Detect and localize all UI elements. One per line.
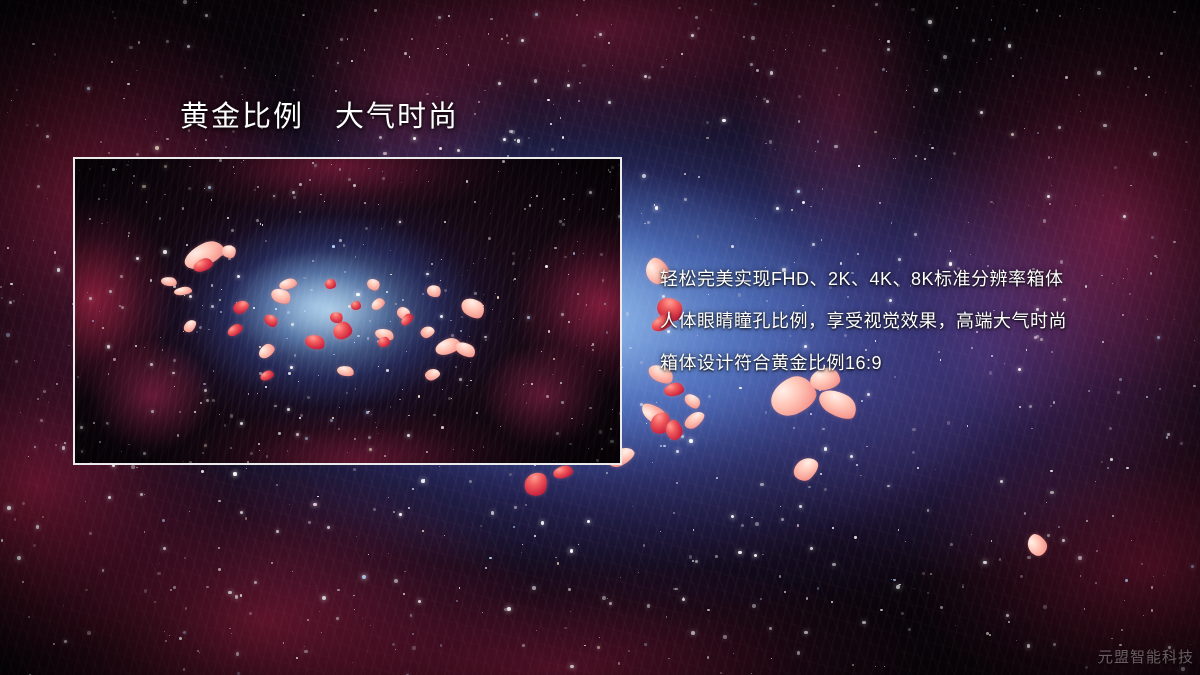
star — [793, 427, 795, 429]
star — [806, 597, 809, 600]
star — [547, 99, 550, 102]
star — [891, 222, 893, 224]
star — [1160, 52, 1163, 55]
star — [488, 33, 490, 35]
star — [1075, 205, 1076, 206]
star — [404, 52, 407, 55]
star — [235, 595, 238, 598]
star — [228, 591, 232, 595]
star — [695, 76, 696, 77]
star — [819, 390, 820, 391]
star — [632, 506, 633, 507]
star — [905, 541, 907, 543]
star — [812, 243, 815, 246]
star — [138, 41, 140, 43]
star — [327, 526, 330, 529]
star — [411, 38, 413, 40]
presentation-slide: 黄金比例 大气时尚 轻松完美实现FHD、2K、4K、8K标准分辨率箱体 人体眼睛… — [0, 0, 1200, 675]
star — [1151, 609, 1154, 612]
star — [986, 632, 989, 635]
star — [1085, 666, 1089, 670]
star — [810, 399, 811, 400]
star — [599, 637, 600, 638]
star — [648, 76, 651, 79]
star — [567, 84, 570, 87]
star — [927, 592, 929, 594]
star — [570, 549, 574, 553]
star — [240, 511, 243, 514]
star — [156, 131, 157, 132]
star — [673, 588, 676, 591]
star — [469, 480, 472, 483]
star — [183, 631, 186, 634]
star — [738, 551, 742, 555]
body-text-line-3: 箱体设计符合黄金比例16:9 — [660, 342, 1180, 384]
star — [908, 85, 909, 86]
star — [62, 446, 66, 450]
flower-petal — [663, 418, 684, 442]
star — [802, 201, 805, 204]
star — [898, 584, 901, 587]
star — [584, 645, 586, 647]
star — [1043, 605, 1047, 609]
star — [692, 560, 694, 562]
star — [34, 446, 37, 449]
star — [1096, 550, 1098, 552]
star — [955, 625, 956, 626]
star — [931, 178, 932, 179]
star — [647, 604, 650, 607]
star — [1190, 85, 1193, 88]
star — [1027, 556, 1030, 559]
star — [681, 435, 684, 438]
star — [136, 153, 139, 156]
star — [37, 185, 40, 188]
star — [246, 468, 247, 469]
star — [993, 203, 994, 204]
star — [866, 446, 868, 448]
star — [741, 524, 744, 527]
star — [108, 152, 110, 154]
star — [307, 619, 309, 621]
star — [195, 148, 196, 149]
star — [562, 136, 565, 139]
star — [607, 598, 608, 599]
star — [1103, 195, 1104, 196]
star — [968, 222, 969, 223]
star — [1084, 608, 1085, 609]
star — [832, 5, 835, 8]
star — [1031, 428, 1033, 430]
star — [68, 345, 70, 347]
star — [999, 558, 1001, 560]
star — [89, 532, 92, 535]
star — [437, 48, 439, 50]
star — [446, 54, 447, 55]
star — [57, 268, 61, 272]
star — [337, 589, 340, 592]
star — [1016, 640, 1017, 641]
star — [1173, 241, 1176, 244]
star — [911, 8, 915, 12]
star — [170, 589, 172, 591]
flower-petal — [682, 408, 707, 432]
star — [875, 666, 876, 667]
star — [850, 455, 853, 458]
star — [54, 251, 56, 253]
star — [697, 235, 700, 238]
star — [612, 65, 613, 66]
star — [1050, 491, 1054, 495]
star — [87, 87, 90, 90]
star — [36, 525, 40, 529]
star — [1012, 75, 1014, 77]
star — [289, 504, 290, 505]
star — [513, 526, 515, 528]
star — [1049, 203, 1051, 205]
star — [312, 75, 314, 77]
star — [993, 6, 994, 7]
star — [40, 419, 43, 422]
star — [367, 651, 368, 652]
star — [364, 49, 366, 51]
star — [254, 581, 257, 584]
star — [810, 413, 812, 415]
star — [1101, 461, 1103, 463]
star — [666, 59, 667, 60]
star — [570, 611, 571, 612]
star — [731, 245, 734, 248]
star — [480, 525, 482, 527]
star — [594, 36, 596, 38]
star — [102, 569, 105, 572]
star — [628, 650, 630, 652]
star — [308, 521, 312, 525]
star — [14, 518, 16, 520]
star — [989, 634, 991, 636]
star — [536, 630, 537, 631]
star — [388, 497, 389, 498]
star — [691, 34, 694, 37]
star — [754, 3, 757, 6]
star — [1020, 57, 1022, 59]
star — [769, 140, 773, 144]
star — [53, 643, 55, 645]
star — [914, 588, 915, 589]
star — [1191, 565, 1194, 568]
star — [1046, 502, 1047, 503]
flower-petal — [815, 384, 862, 425]
star — [184, 557, 186, 559]
star — [225, 146, 228, 149]
star — [304, 650, 308, 654]
star — [922, 572, 926, 576]
star — [1023, 4, 1025, 6]
star — [560, 117, 562, 119]
star — [507, 607, 511, 611]
star — [46, 135, 49, 138]
star — [695, 16, 698, 19]
star — [756, 69, 758, 71]
star — [276, 484, 278, 486]
star — [6, 333, 10, 337]
star — [789, 408, 791, 410]
star — [751, 517, 753, 519]
star — [162, 519, 165, 522]
star — [514, 506, 517, 509]
star — [681, 53, 683, 55]
star — [875, 3, 878, 6]
star — [241, 94, 242, 95]
star — [20, 412, 21, 413]
star — [528, 137, 530, 139]
star — [164, 631, 165, 632]
star — [362, 575, 366, 579]
star — [887, 485, 890, 488]
star — [579, 82, 581, 84]
star — [136, 467, 138, 469]
star — [1036, 9, 1038, 11]
flower-petal — [648, 410, 672, 436]
star — [824, 488, 827, 491]
star — [926, 70, 928, 72]
star — [1109, 427, 1112, 430]
star — [302, 14, 305, 17]
star — [131, 465, 135, 469]
star — [879, 39, 880, 40]
star — [338, 140, 339, 141]
star — [884, 666, 885, 667]
star — [880, 609, 883, 612]
star — [1151, 236, 1154, 239]
star — [340, 38, 343, 41]
star — [953, 152, 956, 155]
star — [85, 501, 86, 502]
star — [244, 67, 246, 69]
star — [656, 402, 657, 403]
star — [1125, 579, 1128, 582]
star — [787, 414, 789, 416]
star — [218, 500, 221, 503]
star — [313, 503, 317, 507]
star — [326, 47, 328, 49]
star — [743, 36, 745, 38]
flower-petal — [790, 453, 823, 485]
star — [765, 411, 768, 414]
star — [879, 202, 881, 204]
star — [501, 38, 503, 40]
star — [771, 658, 772, 659]
star — [532, 586, 536, 590]
star — [755, 218, 756, 219]
star — [157, 572, 160, 575]
star — [950, 250, 951, 251]
star — [388, 553, 389, 554]
star — [478, 101, 480, 103]
star — [347, 38, 349, 40]
star — [1131, 540, 1132, 541]
star — [64, 442, 66, 444]
star — [351, 60, 353, 62]
star — [893, 158, 895, 160]
star — [1127, 86, 1129, 88]
star — [582, 64, 585, 67]
star — [797, 190, 800, 193]
star — [129, 46, 133, 50]
star — [909, 32, 910, 33]
star — [373, 508, 376, 511]
star — [550, 123, 552, 125]
star — [931, 147, 934, 150]
star — [17, 556, 21, 560]
flower-petal — [638, 400, 670, 428]
star — [896, 585, 900, 589]
star — [668, 658, 670, 660]
star — [1020, 575, 1022, 577]
star — [482, 612, 483, 613]
star — [399, 513, 402, 516]
star — [485, 567, 487, 569]
star — [1006, 614, 1009, 617]
star — [570, 665, 573, 668]
star — [112, 11, 114, 13]
star — [715, 555, 718, 558]
star — [751, 673, 752, 674]
star — [568, 70, 569, 71]
star — [799, 505, 802, 508]
star — [834, 145, 838, 149]
star — [832, 527, 835, 530]
star — [199, 652, 200, 653]
star — [276, 530, 279, 533]
star — [1124, 600, 1126, 602]
star — [647, 221, 650, 224]
star — [640, 403, 643, 406]
star — [1078, 556, 1082, 560]
star — [15, 360, 18, 363]
star — [293, 89, 295, 91]
star — [521, 39, 525, 43]
star — [673, 512, 675, 514]
star — [1159, 388, 1161, 390]
star — [474, 113, 476, 115]
slide-title: 黄金比例 大气时尚 — [180, 100, 459, 135]
star — [760, 598, 762, 600]
star — [144, 589, 148, 593]
star — [1193, 385, 1196, 388]
star — [317, 496, 319, 498]
star — [240, 594, 242, 596]
star — [608, 42, 610, 44]
star — [440, 644, 442, 646]
star — [409, 56, 411, 58]
star — [707, 656, 710, 659]
star — [683, 597, 685, 599]
star — [927, 509, 930, 512]
star — [763, 98, 766, 101]
star — [786, 35, 787, 36]
star — [444, 535, 445, 536]
star — [1062, 539, 1065, 542]
star — [611, 24, 612, 25]
star — [336, 617, 339, 620]
star — [205, 14, 208, 17]
star — [930, 573, 932, 575]
star — [1027, 644, 1030, 647]
star — [629, 347, 631, 349]
star — [7, 247, 9, 249]
star — [943, 55, 947, 59]
star — [798, 120, 800, 122]
star — [861, 400, 863, 402]
star — [597, 646, 600, 649]
star — [1153, 576, 1154, 577]
star — [514, 139, 516, 141]
star — [1028, 205, 1029, 206]
star — [16, 89, 18, 91]
star — [155, 146, 159, 150]
star — [849, 25, 850, 26]
star — [438, 16, 441, 19]
star — [394, 579, 398, 583]
star — [1080, 8, 1081, 9]
star — [832, 563, 836, 567]
framed-image-content — [75, 159, 620, 463]
star — [506, 34, 509, 37]
star — [852, 664, 854, 666]
star — [917, 467, 919, 469]
star — [32, 43, 35, 46]
star — [766, 100, 769, 103]
star — [689, 555, 693, 559]
star — [731, 515, 735, 519]
star — [218, 568, 221, 571]
star — [535, 13, 538, 16]
star — [249, 612, 253, 616]
star — [136, 70, 137, 71]
star — [817, 140, 820, 143]
star — [817, 587, 820, 590]
star — [710, 9, 711, 10]
star — [534, 79, 537, 82]
star — [189, 511, 190, 512]
star — [576, 14, 578, 16]
star — [838, 94, 840, 96]
star — [898, 529, 900, 531]
star — [682, 598, 685, 601]
star — [609, 602, 612, 605]
star — [304, 646, 305, 647]
star — [666, 616, 668, 618]
star — [321, 632, 322, 633]
star — [886, 71, 887, 72]
star — [670, 439, 671, 440]
star — [28, 456, 29, 457]
star — [522, 544, 523, 545]
star — [292, 571, 293, 572]
star — [804, 631, 808, 635]
star — [765, 143, 767, 145]
star — [34, 360, 35, 361]
star — [395, 649, 396, 650]
star — [991, 540, 993, 542]
star — [1086, 520, 1088, 522]
star — [820, 473, 823, 476]
star — [1098, 8, 1099, 9]
star — [1117, 391, 1120, 394]
framed-image-vignette — [75, 159, 620, 463]
star — [1163, 575, 1164, 576]
